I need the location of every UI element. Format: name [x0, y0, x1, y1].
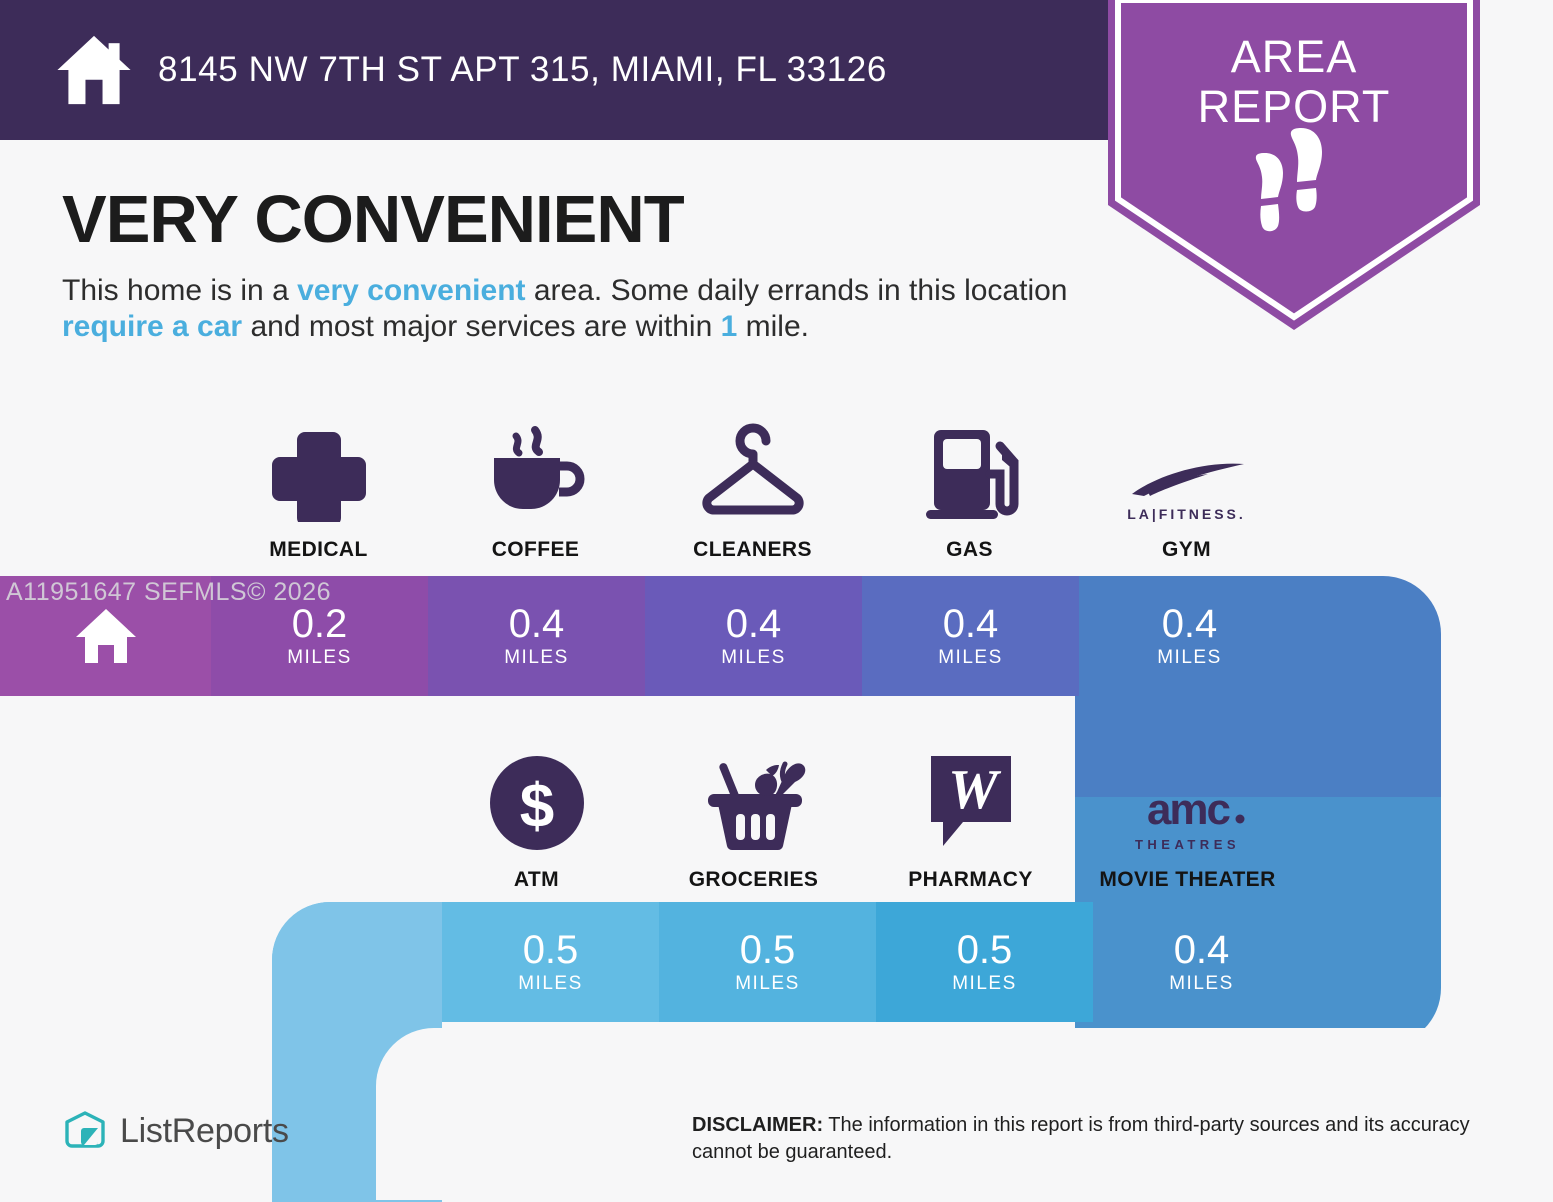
hero-section: VERY CONVENIENT This home is in a very c… — [62, 185, 1112, 345]
distance-bar-row-2: 0.5 MILES 0.5 MILES 0.5 MILES 0.4 MILES — [272, 902, 1440, 1022]
distance-unit: MILES — [287, 647, 352, 669]
walgreens-logo: W — [927, 748, 1015, 852]
distance-value: 0.5 — [957, 929, 1013, 971]
distance-unit: MILES — [518, 973, 583, 995]
property-address: 8145 NW 7TH ST APT 315, MIAMI, FL 33126 — [158, 50, 887, 90]
disclaimer-label: DISCLAIMER: — [692, 1114, 823, 1136]
header-bar: 8145 NW 7TH ST APT 315, MIAMI, FL 33126 — [0, 0, 1110, 140]
hero-text-4: mile. — [737, 310, 809, 343]
coffee-cup-icon — [484, 418, 588, 522]
shield-shape — [1108, 0, 1480, 330]
distance-value: 0.4 — [509, 603, 565, 645]
la-fitness-wordmark: LA|FITNESS. — [1127, 506, 1246, 522]
amenity-label: GYM — [1162, 538, 1211, 562]
amenity-row-2: $ ATM GROCERIES W — [428, 748, 1296, 892]
hero-text-2: area. Some daily errands in this locatio… — [526, 274, 1068, 307]
amenity-label: COFFEE — [492, 538, 580, 562]
hero-highlight-2: require a car — [62, 310, 242, 343]
amenity-label: MEDICAL — [269, 538, 367, 562]
hero-highlight-1: very convenient — [297, 274, 525, 307]
clothes-hanger-icon — [697, 418, 809, 522]
amenity-label: PHARMACY — [908, 868, 1033, 892]
distance-cell-movie-theater: 0.4 MILES — [1093, 902, 1440, 1022]
distance-cell-gas: 0.4 MILES — [862, 576, 1079, 696]
distance-cell-atm: 0.5 MILES — [442, 902, 659, 1022]
distance-unit: MILES — [952, 973, 1017, 995]
listreports-logo[interactable]: ListReports — [62, 1108, 289, 1154]
amenity-label: GROCERIES — [689, 868, 819, 892]
distance-cell-medical: 0.2 MILES — [211, 576, 428, 696]
amenity-label: ATM — [514, 868, 559, 892]
svg-text:amc: amc — [1146, 786, 1230, 834]
amenity-gym[interactable]: LA|FITNESS. GYM — [1078, 418, 1295, 562]
svg-text:$: $ — [519, 772, 553, 841]
amenity-row-1: MEDICAL COFFEE CLEANERS — [210, 418, 1295, 562]
distance-unit: MILES — [504, 647, 569, 669]
amc-wordmark-icon: amc — [1127, 786, 1249, 834]
distance-unit: MILES — [1157, 647, 1222, 669]
amenity-label: MOVIE THEATER — [1099, 868, 1275, 892]
svg-text:W: W — [948, 759, 1002, 821]
distance-unit: MILES — [721, 647, 786, 669]
distance-unit: MILES — [735, 973, 800, 995]
amenity-movie-theater[interactable]: amc THEATRES MOVIE THEATER — [1079, 748, 1296, 892]
area-report-badge: AREA REPORT — [1108, 0, 1480, 330]
home-icon — [55, 31, 133, 109]
distance-value: 0.4 — [943, 603, 999, 645]
distance-value: 0.2 — [292, 603, 348, 645]
distance-cell-coffee: 0.4 MILES — [428, 576, 645, 696]
home-icon — [73, 606, 139, 666]
amenity-pharmacy[interactable]: W PHARMACY — [862, 748, 1079, 892]
snake-turn-cell — [272, 902, 442, 1022]
amenity-cleaners[interactable]: CLEANERS — [644, 418, 861, 562]
distance-value: 0.5 — [523, 929, 579, 971]
hero-highlight-3: 1 — [721, 310, 738, 343]
medical-cross-icon — [272, 418, 366, 522]
distance-value: 0.4 — [726, 603, 782, 645]
la-fitness-swoosh-icon — [1128, 462, 1246, 502]
listreports-wordmark: ListReports — [120, 1112, 289, 1151]
grocery-basket-icon — [698, 748, 810, 852]
distance-value: 0.4 — [1162, 603, 1218, 645]
amenity-groceries[interactable]: GROCERIES — [645, 748, 862, 892]
listreports-house-icon — [62, 1108, 108, 1154]
la-fitness-logo: LA|FITNESS. — [1127, 418, 1246, 522]
amc-sub-wordmark: THEATRES — [1135, 837, 1240, 852]
amc-theatres-logo: amc THEATRES — [1127, 748, 1249, 852]
amenity-coffee[interactable]: COFFEE — [427, 418, 644, 562]
amenity-atm[interactable]: $ ATM — [428, 748, 645, 892]
amenity-gas[interactable]: GAS — [861, 418, 1078, 562]
snake-start-home-cell — [0, 576, 211, 696]
distance-value: 0.5 — [740, 929, 796, 971]
distance-unit: MILES — [938, 647, 1003, 669]
disclaimer: DISCLAIMER: The information in this repo… — [692, 1112, 1492, 1166]
hero-text-1: This home is in a — [62, 274, 297, 307]
distance-unit: MILES — [1169, 973, 1234, 995]
amenity-label: GAS — [946, 538, 993, 562]
dollar-circle-icon: $ — [488, 748, 586, 852]
distance-cell-groceries: 0.5 MILES — [659, 902, 876, 1022]
distance-cell-gym: 0.4 MILES — [1079, 576, 1300, 696]
distance-bar-row-1: 0.2 MILES 0.4 MILES 0.4 MILES 0.4 MILES … — [0, 576, 1300, 696]
hero-description: This home is in a very convenient area. … — [62, 273, 1092, 345]
gas-pump-icon — [918, 418, 1022, 522]
page-title: VERY CONVENIENT — [62, 185, 1112, 255]
distance-cell-cleaners: 0.4 MILES — [645, 576, 862, 696]
amenity-label: CLEANERS — [693, 538, 812, 562]
distance-value: 0.4 — [1169, 929, 1234, 971]
amenity-medical[interactable]: MEDICAL — [210, 418, 427, 562]
distance-cell-pharmacy: 0.5 MILES — [876, 902, 1093, 1022]
hero-text-3: and most major services are within — [242, 310, 721, 343]
